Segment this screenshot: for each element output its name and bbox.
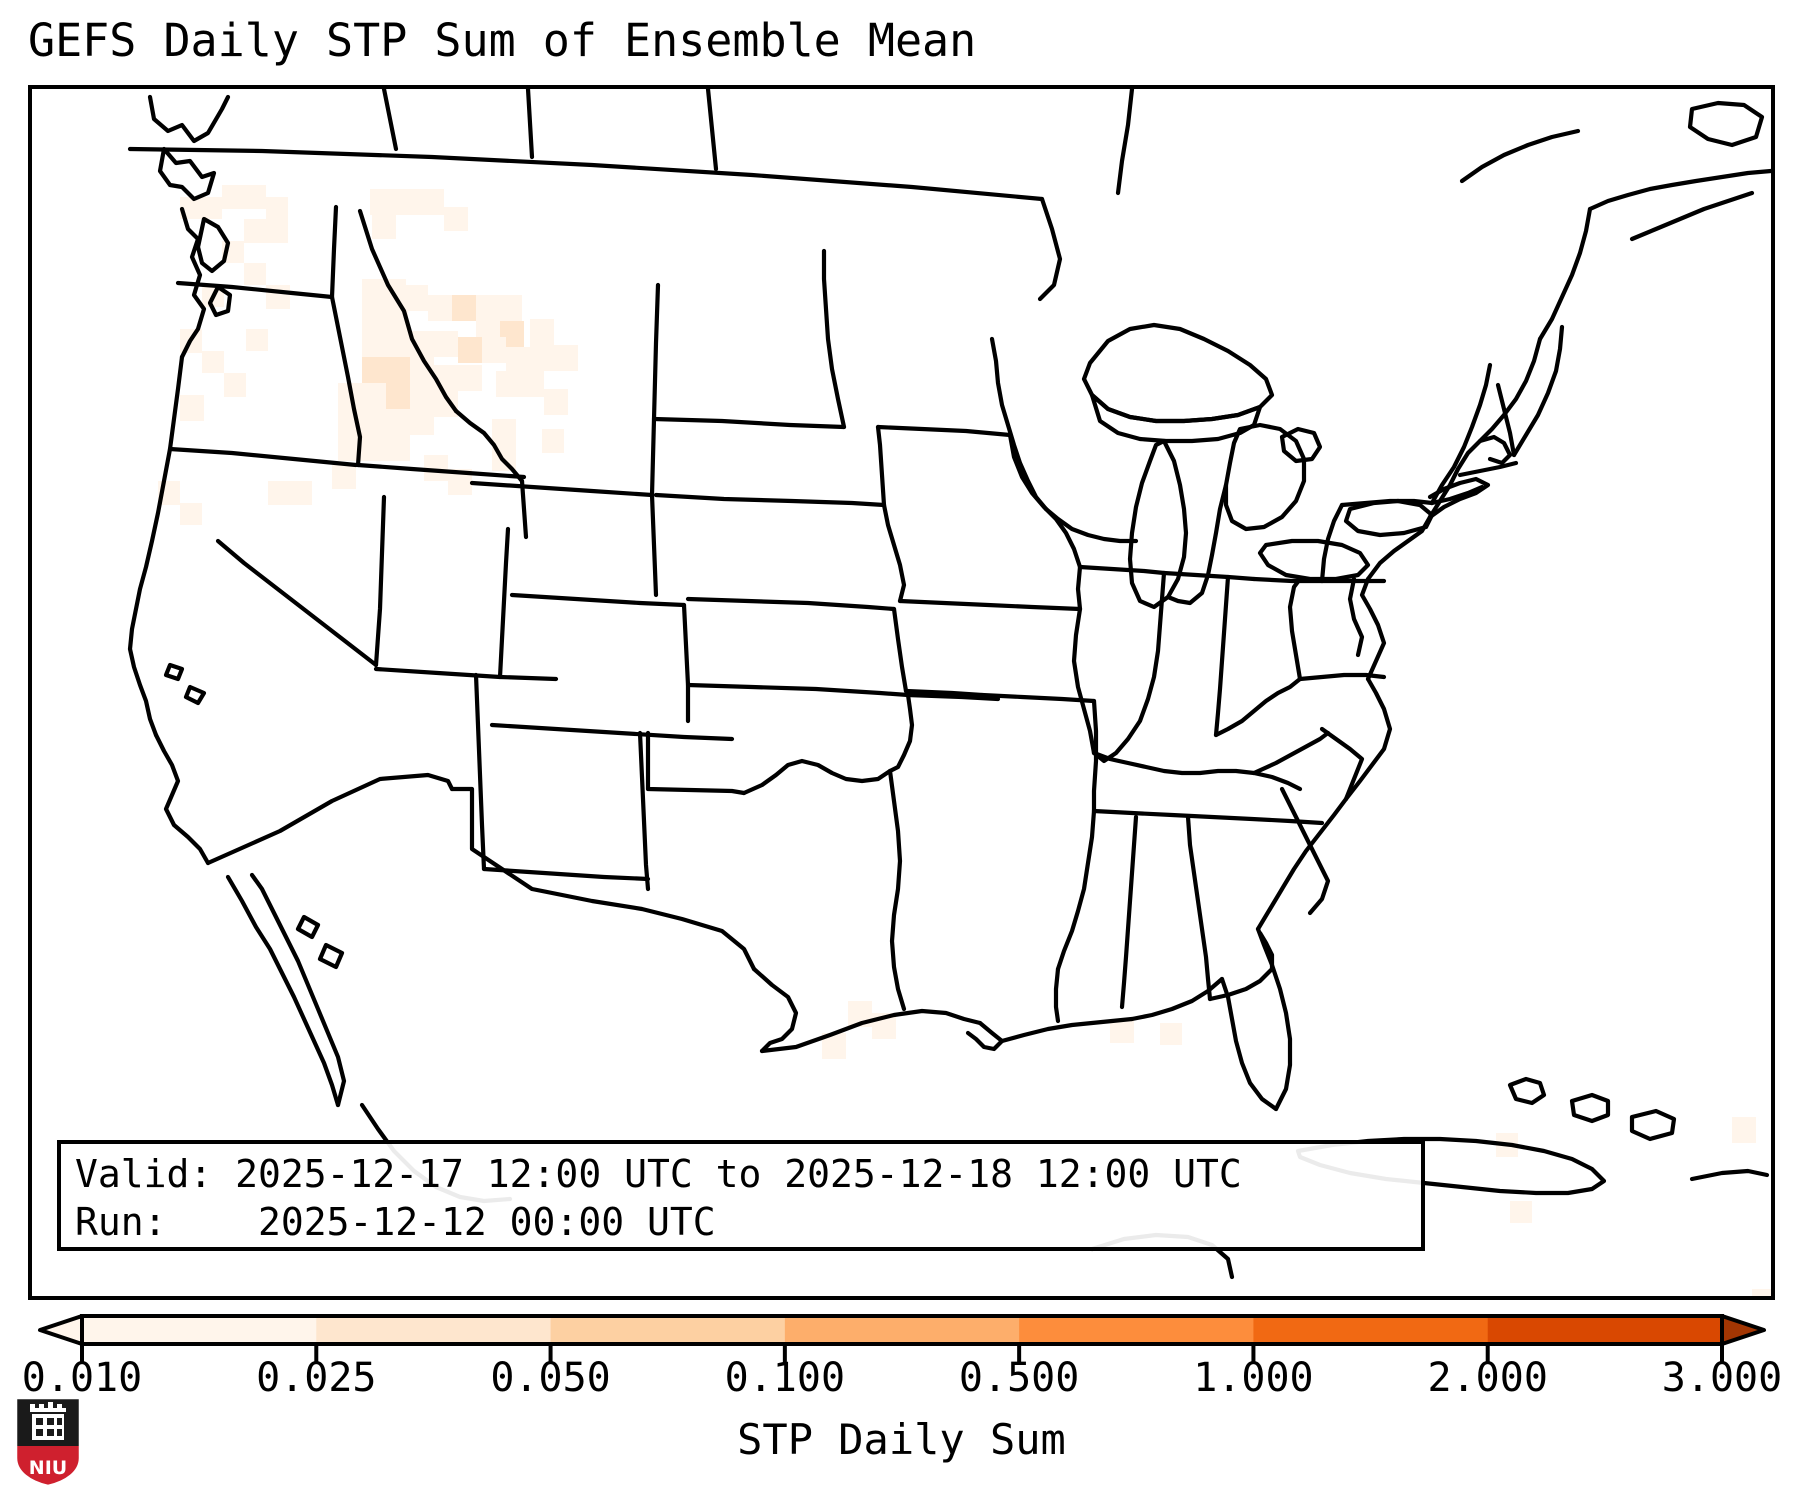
border-va-nc <box>1300 675 1384 679</box>
lake-huron <box>1226 425 1304 529</box>
lake-michigan <box>1130 441 1186 607</box>
border-ks-ok <box>688 685 908 695</box>
border-nv-ut <box>376 497 384 665</box>
coastline-california-south <box>156 735 208 863</box>
colorbar-tick-label: 0.050 <box>490 1355 610 1401</box>
run-time-line: Run: 2025-12-12 00:00 UTC <box>75 1198 1421 1246</box>
lake-superior <box>1084 325 1272 421</box>
border-us-canada-lakes <box>1040 199 1060 299</box>
border-wv-va-south <box>1290 579 1300 679</box>
border-id-mt-1 <box>360 211 456 411</box>
colorbar-tick-labels: 0.0100.0250.0500.1000.5001.0002.0003.000 <box>0 1355 1803 1405</box>
island-gulf-cal-2 <box>320 945 342 967</box>
border-ne-ks <box>688 599 894 609</box>
border-la-tx-mouth <box>1056 969 1058 1021</box>
border-or-ca-nv <box>170 449 356 465</box>
border-tx-ok-panhandle <box>648 733 744 793</box>
coastline-islands-nw <box>210 287 230 315</box>
border-sd-mn-ia <box>878 427 884 505</box>
border-la-ms <box>1058 811 1094 969</box>
coastline-new-england <box>1430 339 1540 517</box>
border-in-oh <box>1216 577 1228 735</box>
coastline-maritime-canada <box>1590 171 1771 209</box>
colorbar-segment <box>316 1316 551 1344</box>
border-ia-mo <box>900 601 1080 609</box>
michigan-upper-peninsula <box>1092 395 1260 441</box>
coastline-baja-west <box>228 877 338 1105</box>
island-channel-1 <box>166 665 182 679</box>
niu-logo-text: NIU <box>29 1457 67 1479</box>
border-wa-or <box>178 283 332 297</box>
border-mt-nd-sd <box>652 285 658 495</box>
valid-time-line: Valid: 2025-12-17 12:00 UTC to 2025-12-1… <box>75 1150 1421 1198</box>
border-tx-la <box>890 771 904 1009</box>
lake-erie <box>1260 541 1368 579</box>
border-nd-mn <box>824 251 844 427</box>
border-canada-bc-ab <box>384 89 396 149</box>
colorbar-under-extend <box>40 1316 82 1344</box>
border-wy-sd-ne <box>652 495 656 595</box>
coastline-gulf-st-lawrence <box>1462 131 1578 181</box>
coastline-texas-gulf <box>754 969 796 1051</box>
colorbar-over-extend <box>1722 1316 1764 1344</box>
border-us-canada-west <box>130 149 1042 199</box>
border-nv-ca <box>218 541 376 665</box>
geography-outline-layer <box>32 89 1771 1296</box>
coastline-chesapeake <box>1362 579 1384 679</box>
colorbar-tick-label: 3.000 <box>1662 1355 1782 1401</box>
coastline-pacific-northwest <box>150 97 228 141</box>
border-il-wi <box>1080 567 1164 573</box>
border-id-ut-nv <box>358 465 524 477</box>
border-ms-al <box>1122 817 1136 1007</box>
border-wy-co <box>512 595 684 605</box>
border-ut-co <box>500 529 508 677</box>
coastline-gulf-alabama <box>1002 1019 1132 1041</box>
niu-logo: NIU <box>14 1396 82 1488</box>
coastline-bahamas-1 <box>1510 1079 1544 1103</box>
border-co-nm-ok <box>492 725 732 739</box>
lake-ontario <box>1346 501 1432 535</box>
map-plot-area <box>28 85 1775 1300</box>
border-canada-ab-sk <box>528 89 532 157</box>
border-id-wy <box>522 481 526 537</box>
coastline-vancouver-island <box>160 149 214 199</box>
border-il-mo-1 <box>1078 567 1080 609</box>
colorbar-tick-label: 0.010 <box>22 1355 142 1401</box>
coastline-florida-west <box>1222 979 1276 1109</box>
island-channel-2 <box>186 687 204 703</box>
coastline-nova-scotia <box>1632 193 1752 239</box>
coastline-cape-cod <box>1480 437 1510 463</box>
chesapeake-bay-detail <box>1350 579 1362 655</box>
border-wa-id <box>332 207 336 297</box>
border-tn-ms-al-ga <box>1094 811 1322 823</box>
border-ma-ct-ri <box>1460 463 1516 475</box>
island-gulf-cal-1 <box>298 917 318 937</box>
border-ut-az-nm <box>376 669 556 679</box>
colorbar-segment <box>82 1316 317 1344</box>
border-sd-ne <box>656 495 884 505</box>
border-il-in <box>1094 573 1164 761</box>
border-mn-ia <box>878 427 1010 435</box>
border-co-ks-ne <box>684 605 688 721</box>
border-mt-wy <box>472 483 652 495</box>
coastline-bahamas-3 <box>1632 1111 1674 1139</box>
border-or-id <box>332 297 360 465</box>
weather-map-page: GEFS Daily STP Sum of Ensemble Mean <box>0 0 1803 1500</box>
border-canada-sk-mb <box>708 89 716 169</box>
colorbar-tick-label: 0.500 <box>959 1355 1079 1401</box>
border-nc-ga-sc <box>1254 733 1328 773</box>
border-al-ga <box>1188 817 1210 999</box>
border-us-mexico-west <box>208 775 452 863</box>
colorbar-segment <box>785 1316 1020 1344</box>
border-nd-sd <box>654 419 844 427</box>
border-tx-ok <box>744 761 890 793</box>
border-ar-ms-la <box>1094 701 1096 811</box>
border-il-mo-2 <box>1074 609 1094 753</box>
border-canada-mb-on <box>1118 89 1132 193</box>
border-ky-tn <box>1094 753 1300 789</box>
border-oh-pa-wv <box>1254 579 1322 581</box>
coastline-baja-east <box>252 875 344 1105</box>
colorbar-tick-label: 1.000 <box>1193 1355 1313 1401</box>
border-id-mt-2 <box>456 411 522 481</box>
border-mn-wi <box>992 339 1046 509</box>
page-title: GEFS Daily STP Sum of Ensemble Mean <box>28 14 976 67</box>
border-ky-in-oh <box>1216 679 1300 735</box>
border-ia-wi-il <box>1010 435 1080 567</box>
forecast-info-box: Valid: 2025-12-17 12:00 UTC to 2025-12-1… <box>57 1140 1425 1251</box>
coastline-mississippi-delta <box>968 1023 1002 1049</box>
border-ne-ia-mo <box>884 505 904 601</box>
colorbar-segment <box>1253 1316 1488 1344</box>
colorbar-axis-label: STP Daily Sum <box>0 1415 1803 1464</box>
colorbar-tick-label: 0.025 <box>256 1355 376 1401</box>
border-az-nm <box>476 675 484 869</box>
colorbar-segment <box>1019 1316 1254 1344</box>
coastline-olympic-peninsula <box>198 219 228 271</box>
colorbar-segment <box>1488 1316 1723 1344</box>
coastline-bahamas-2 <box>1572 1095 1608 1121</box>
coastline-hispaniola <box>1692 1171 1767 1179</box>
border-ok-tx-e <box>890 695 912 771</box>
colorbar-tick-label: 0.100 <box>725 1355 845 1401</box>
coastline-maine <box>1540 209 1590 339</box>
border-ks-mo <box>894 609 906 691</box>
coastline-newfoundland <box>1690 103 1762 145</box>
colorbar-tick-label: 2.000 <box>1427 1355 1547 1401</box>
colorbar-segment <box>551 1316 786 1344</box>
